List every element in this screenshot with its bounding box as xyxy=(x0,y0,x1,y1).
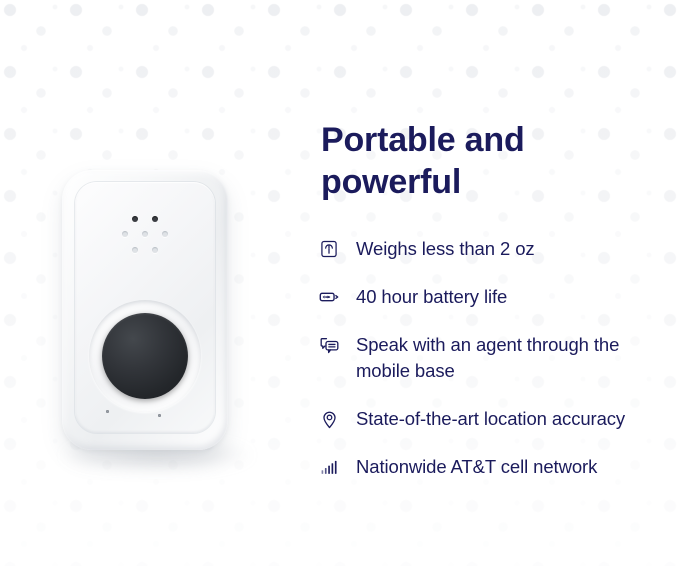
speaker-grille xyxy=(114,216,176,260)
feature-label: Speak with an agent through the mobile b… xyxy=(356,332,676,384)
call-button-bezel[interactable] xyxy=(89,300,201,412)
signal-bars-icon xyxy=(318,456,340,478)
feature-item-agent: Speak with an agent through the mobile b… xyxy=(318,332,676,384)
feature-label: State-of-the-art location accuracy xyxy=(356,406,625,432)
feature-item-network: Nationwide AT&T cell network xyxy=(318,454,676,480)
microphone-pinhole-left xyxy=(106,410,109,413)
microphone-pinhole-right xyxy=(158,414,161,417)
battery-icon xyxy=(318,286,340,308)
device-front-panel xyxy=(75,182,215,433)
product-feature-panel: Portable and powerful Weighs less than 2… xyxy=(0,0,679,566)
feature-label: 40 hour battery life xyxy=(356,284,507,310)
feature-item-weight: Weighs less than 2 oz xyxy=(318,236,676,262)
device-body xyxy=(62,170,228,450)
copy-column: Portable and powerful Weighs less than 2… xyxy=(318,0,679,566)
feature-item-location: State-of-the-art location accuracy xyxy=(318,406,676,432)
page-title: Portable and powerful xyxy=(321,119,661,203)
chat-bubbles-icon xyxy=(318,334,340,356)
location-pin-icon xyxy=(318,408,340,430)
feature-label: Weighs less than 2 oz xyxy=(356,236,535,262)
feature-list: Weighs less than 2 oz 40 hour battery li… xyxy=(318,236,676,480)
feature-label: Nationwide AT&T cell network xyxy=(356,454,597,480)
device-image xyxy=(0,0,300,566)
scale-icon xyxy=(318,238,340,260)
emergency-call-button[interactable] xyxy=(102,313,188,399)
feature-item-battery: 40 hour battery life xyxy=(318,284,676,310)
